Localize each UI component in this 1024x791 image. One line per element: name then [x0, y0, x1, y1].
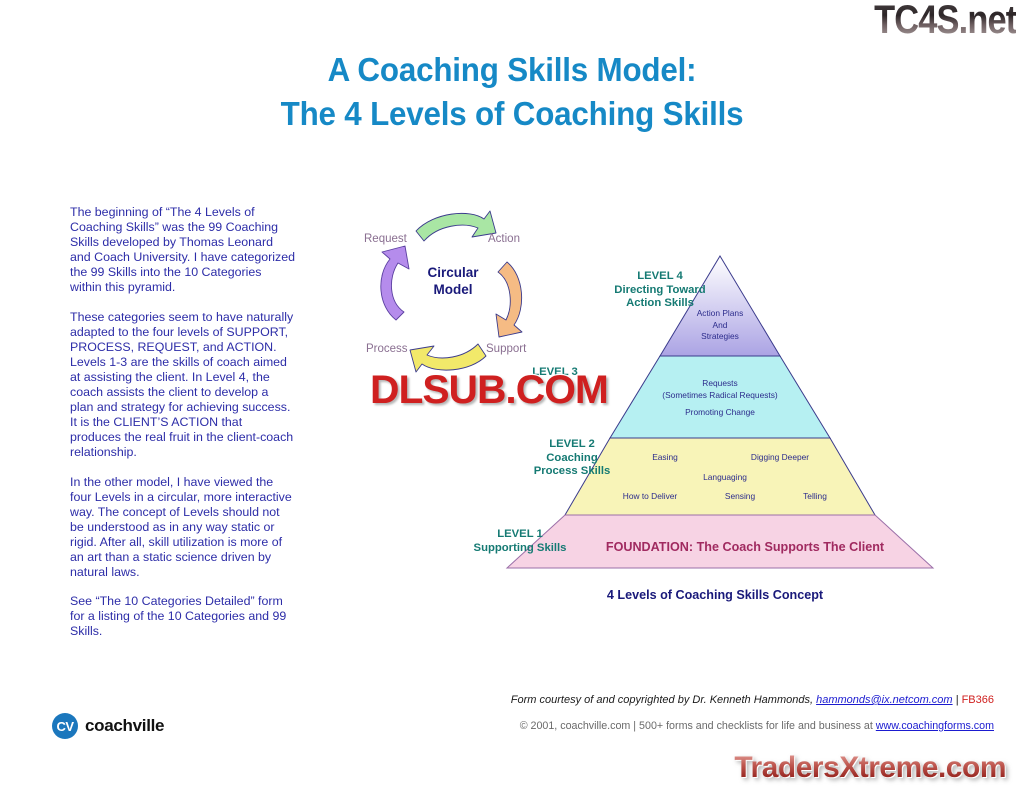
pyramid-label-level-4: LEVEL 4 Directing Toward Action Skills — [595, 270, 725, 311]
dlsub-watermark: DLSUB.COM — [370, 368, 608, 413]
footer-separator: | — [953, 694, 962, 706]
footer-form-code: FB366 — [962, 694, 994, 706]
footer-courtesy-line: Form courtesy of and copyrighted by Dr. … — [0, 694, 994, 706]
pyramid-foundation-text: FOUNDATION: The Coach Supports The Clien… — [585, 540, 905, 554]
tradersxtreme-watermark: TradersXtreme.com — [734, 751, 1006, 785]
pyramid-label-level-4-line-2: Directing Toward — [614, 284, 705, 296]
footer-copyright-prefix: © 2001, coachville.com | 500+ forms and … — [520, 720, 876, 732]
page-title: A Coaching Skills Model: The 4 Levels of… — [26, 48, 999, 136]
circular-label-request: Request — [364, 233, 407, 245]
circular-label-action: Action — [488, 233, 520, 245]
narrative-paragraph-2: These categories seem to have naturally … — [70, 310, 295, 461]
narrative-column: The beginning of “The 4 Levels of Coachi… — [70, 205, 295, 653]
tier-4-line-1: Action Plans — [697, 308, 744, 318]
tier-4-line-3: Strategies — [701, 331, 739, 341]
tier-2-digging-deeper: Digging Deeper — [720, 452, 840, 464]
coachville-logo[interactable]: CV coachville — [52, 713, 164, 739]
tc4s-watermark: TC4S.net — [874, 0, 1016, 43]
tier-2-sensing: Sensing — [700, 491, 780, 503]
tier-2-languaging: Languaging — [703, 472, 747, 482]
pyramid-tier-3-text-secondary: Promoting Change — [640, 407, 800, 419]
footer-courtesy-prefix: Form courtesy of and copyrighted by Dr. … — [511, 694, 816, 706]
pyramid-caption: 4 Levels of Coaching Skills Concept — [550, 588, 880, 602]
pyramid-tier-4-text: Action Plans And Strategies — [660, 308, 780, 343]
tier-2-telling: Telling — [780, 491, 850, 503]
tier-3-line-3: Promoting Change — [685, 407, 755, 417]
tier-4-line-2: And — [713, 320, 728, 330]
tier-3-line-2: (Sometimes Radical Requests) — [662, 390, 777, 400]
circular-label-process: Process — [366, 343, 408, 355]
pyramid-label-level-1-line-1: LEVEL 1 — [497, 528, 543, 540]
footer-email-link[interactable]: hammonds@ix.netcom.com — [816, 694, 953, 706]
pyramid-label-level-1-line-2: Supporting Skills — [474, 542, 567, 554]
dlsub-watermark-text: DLSUB.COM — [370, 368, 608, 412]
tier-2-how-to-deliver: How to Deliver — [600, 491, 700, 503]
pyramid-diagram: LEVEL 4 Directing Toward Action Skills L… — [455, 248, 955, 618]
pyramid-tier-3-text-primary: Requests (Sometimes Radical Requests) — [640, 378, 800, 401]
cv-badge-icon: CV — [52, 713, 78, 739]
title-line-1: A Coaching Skills Model: — [328, 51, 697, 88]
narrative-paragraph-4: See “The 10 Categories Detailed” form fo… — [70, 594, 295, 639]
pyramid-label-level-2-line-2: Coaching — [546, 452, 597, 464]
footer-coachingforms-link[interactable]: www.coachingforms.com — [876, 720, 994, 732]
tier-2-easing: Easing — [610, 452, 720, 464]
pyramid-tier-2-row-1: EasingDigging Deeper — [605, 452, 845, 464]
tier-3-line-1: Requests — [702, 378, 737, 388]
arrow-top-green — [416, 211, 496, 241]
pyramid-tier-2-row-2: Languaging — [605, 472, 845, 484]
poster-canvas: TC4S.net A Coaching Skills Model: The 4 … — [0, 0, 1024, 791]
pyramid-label-level-4-line-1: LEVEL 4 — [637, 270, 683, 282]
narrative-paragraph-3: In the other model, I have viewed the fo… — [70, 475, 295, 581]
pyramid-label-level-1: LEVEL 1 Supporting Skills — [450, 528, 590, 555]
pyramid-label-level-2-line-1: LEVEL 2 — [549, 438, 595, 450]
title-line-2: The 4 Levels of Coaching Skills — [26, 92, 999, 136]
pyramid-label-level-2-line-3: Process Skills — [534, 465, 611, 477]
coachville-wordmark: coachville — [85, 716, 164, 736]
narrative-paragraph-1: The beginning of “The 4 Levels of Coachi… — [70, 205, 295, 296]
pyramid-tier-2-row-3: How to DeliverSensingTelling — [595, 491, 855, 503]
